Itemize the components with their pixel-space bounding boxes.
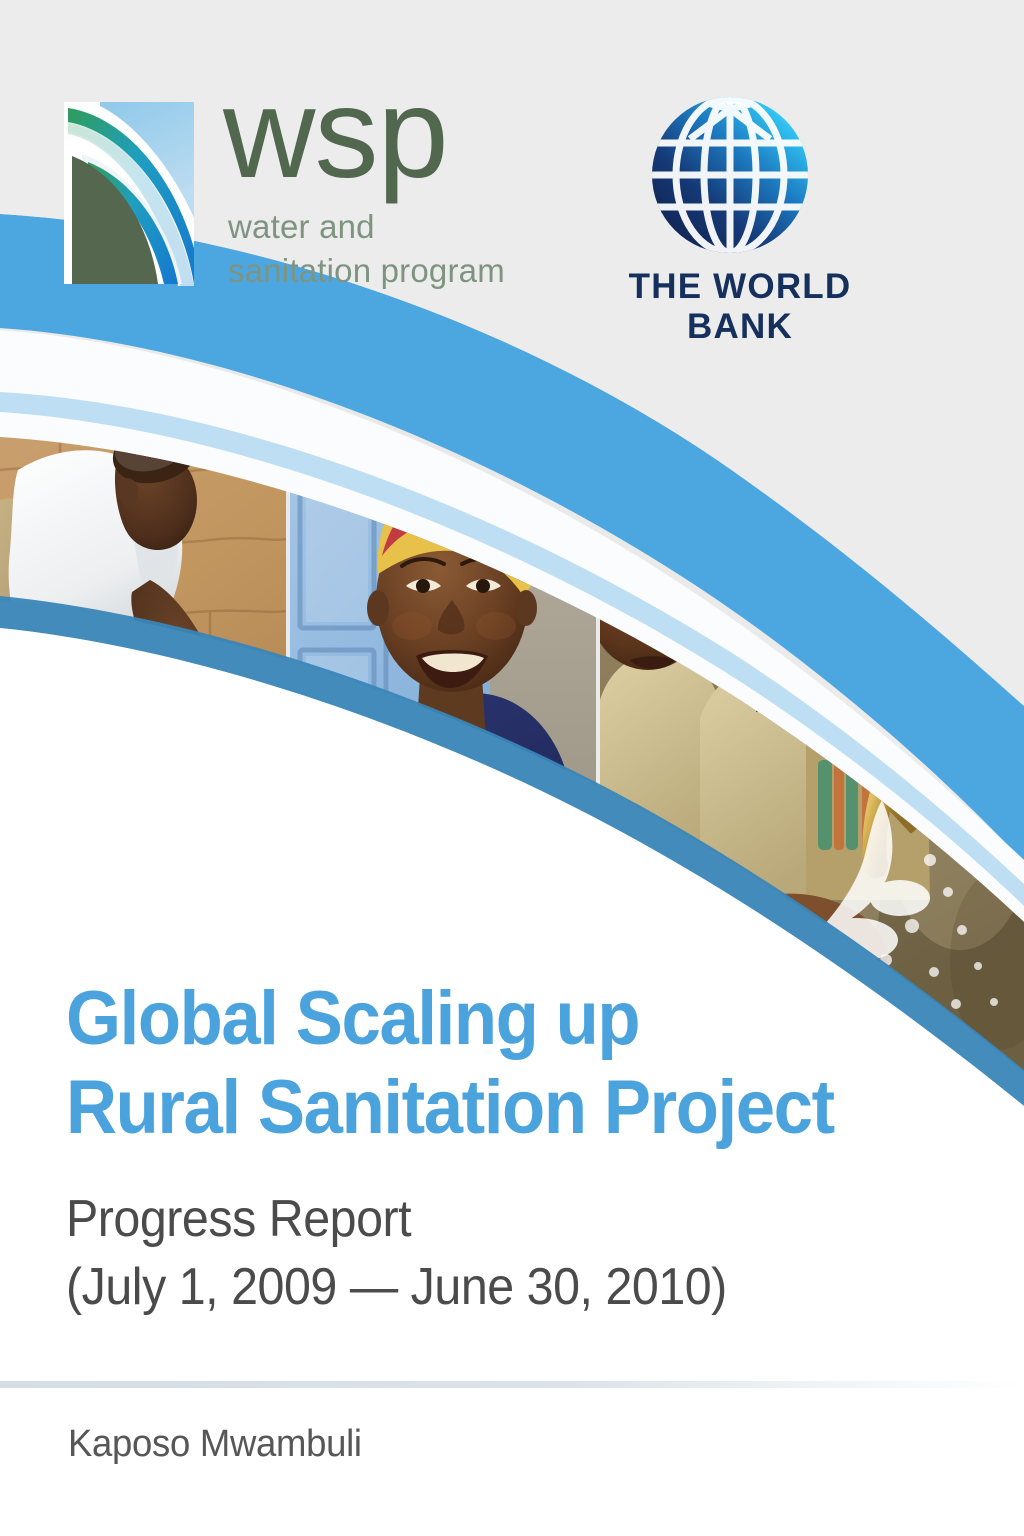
divider — [0, 1381, 1024, 1388]
title-line-2: Rural Sanitation Project — [66, 1064, 903, 1153]
report-cover: wsp water and sanitation program — [0, 0, 1024, 1536]
wsp-tagline: water and sanitation program — [228, 205, 505, 293]
subtitle-line-2: (July 1, 2009 — June 30, 2010) — [66, 1253, 903, 1322]
wsp-logo: wsp water and sanitation program — [60, 98, 560, 298]
wsp-logo-mark — [60, 98, 198, 288]
wsp-tagline-line1: water and — [228, 205, 505, 249]
world-bank-logo: THE WORLD BANK — [575, 95, 905, 310]
globe-icon — [650, 95, 810, 255]
wsp-wordmark: wsp — [223, 70, 448, 198]
title-line-1: Global Scaling up — [66, 975, 903, 1064]
subtitle-line-1: Progress Report — [66, 1185, 903, 1254]
wsp-tagline-line2: sanitation program — [228, 249, 505, 293]
subtitle-block: Progress Report (July 1, 2009 — June 30,… — [66, 1185, 966, 1322]
world-bank-wordmark: THE WORLD BANK — [575, 267, 905, 347]
title-block: Global Scaling up Rural Sanitation Proje… — [66, 975, 966, 1322]
author-name: Kaposo Mwambuli — [68, 1423, 362, 1466]
